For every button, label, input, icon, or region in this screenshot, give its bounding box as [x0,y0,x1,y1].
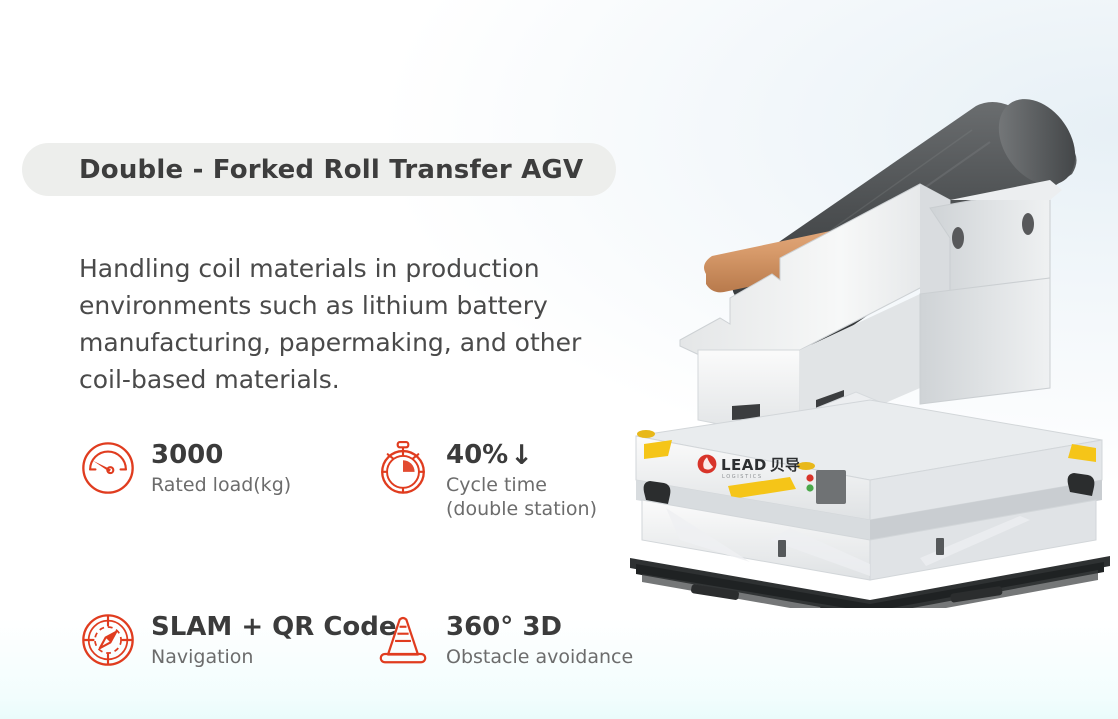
description-line-4: coil-based materials. [79,361,639,398]
spec-item-rated-load: 3000 Rated load(kg) [79,437,374,521]
status-light [806,484,813,491]
spec-value: 360° 3D [446,612,633,642]
spec-text: 40% ↓ Cycle time (double station) [446,437,597,521]
page-title: Double - Forked Roll Transfer AGV [79,155,583,185]
spec-value-number: SLAM + QR Code [151,612,397,642]
svg-text:LEAD: LEAD [721,456,767,474]
product-image-agv: LEAD 贝导 LOGISTICS [620,88,1118,608]
page-title-pill: Double - Forked Roll Transfer AGV [22,143,616,196]
emergency-stop [806,474,813,481]
description-line-3: manufacturing, papermaking, and other [79,324,639,361]
stopwatch-icon [374,439,432,497]
spec-value: SLAM + QR Code [151,612,397,642]
control-panel [816,470,846,504]
spec-label-line-1: Rated load(kg) [151,474,291,496]
spec-text: SLAM + QR Code Navigation [151,609,397,669]
svg-text:贝导: 贝导 [770,456,800,474]
svg-text:LOGISTICS: LOGISTICS [722,474,763,480]
spec-label-line-1: Cycle time [446,474,547,496]
spec-text: 3000 Rated load(kg) [151,437,291,497]
spec-value: 40% ↓ [446,440,597,470]
down-arrow-icon: ↓ [510,442,533,469]
promo-slide: Double - Forked Roll Transfer AGV Handli… [0,0,1118,719]
spec-value-number: 360° 3D [446,612,562,642]
spec-label: Rated load(kg) [151,473,291,497]
spec-label-line-2: (double station) [446,497,597,521]
traffic-cone-icon [374,611,432,669]
spec-label-line-1: Obstacle avoidance [446,646,633,668]
spec-row-1: 3000 Rated load(kg) [79,437,659,521]
product-description: Handling coil materials in production en… [79,250,639,398]
spec-label: Navigation [151,645,397,669]
spec-value-number: 40% [446,440,508,470]
spec-item-obstacle-avoidance: 360° 3D Obstacle avoidance [374,609,659,669]
gauge-icon [79,439,137,497]
spec-value: 3000 [151,440,291,470]
spec-value-number: 3000 [151,440,223,470]
corner-lamp-left [637,430,655,438]
spec-label: Obstacle avoidance [446,645,633,669]
spec-text: 360° 3D Obstacle avoidance [446,609,633,669]
spec-label: Cycle time (double station) [446,473,597,521]
spec-row-2: SLAM + QR Code Navigation [79,609,659,669]
compass-icon [79,611,137,669]
spec-label-line-1: Navigation [151,646,253,668]
spec-item-cycle-time: 40% ↓ Cycle time (double station) [374,437,659,521]
description-line-1: Handling coil materials in production [79,250,639,287]
description-line-2: environments such as lithium battery [79,287,639,324]
spec-item-navigation: SLAM + QR Code Navigation [79,609,374,669]
spec-list: 3000 Rated load(kg) [79,437,659,669]
